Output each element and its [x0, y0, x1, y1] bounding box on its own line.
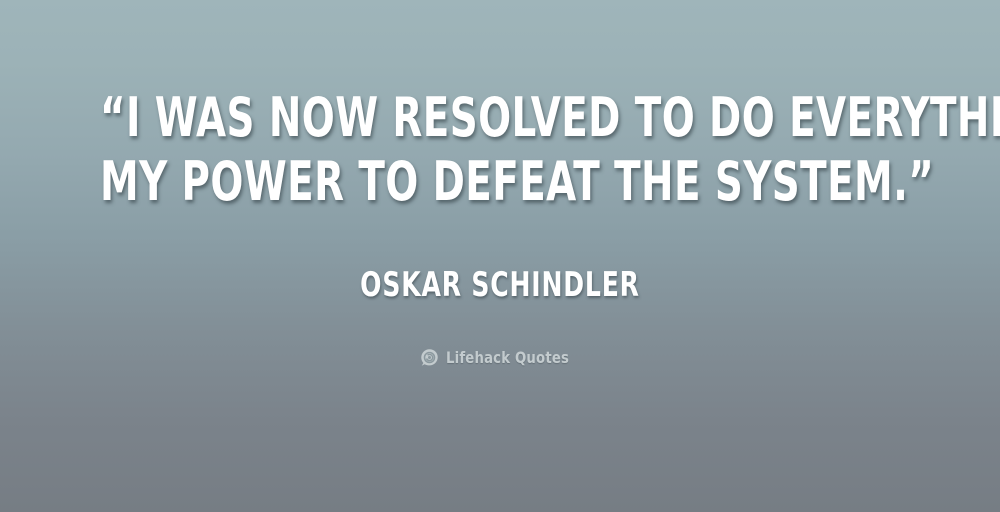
brand-name-label: Lifehack Quotes [446, 348, 569, 367]
quote-card: “I WAS NOW RESOLVED TO DO EVERYTHING IN … [0, 0, 1000, 512]
quote-line-1: “I WAS NOW RESOLVED TO DO EVERYTHING IN [100, 86, 900, 150]
quote-attribution: OSKAR SCHINDLER [90, 266, 910, 304]
quote-text-block: “I WAS NOW RESOLVED TO DO EVERYTHING IN … [0, 86, 1000, 214]
quote-line-2: MY POWER TO DEFEAT THE SYSTEM.” [100, 150, 900, 214]
footer-branding: Lifehack Quotes [420, 348, 580, 367]
lifehack-spiral-logo-icon [420, 348, 439, 367]
